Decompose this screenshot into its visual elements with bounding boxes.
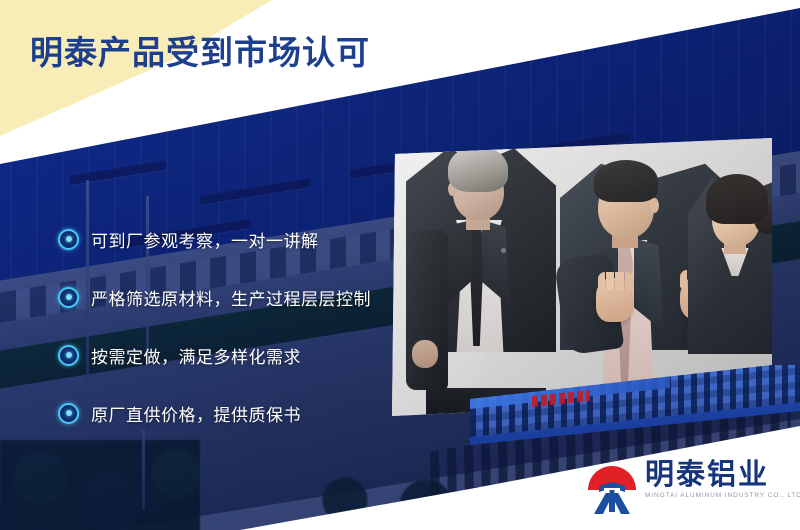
- logo-name-cn: 明泰铝业: [645, 460, 800, 490]
- hair: [448, 146, 508, 192]
- feature-label: 可到厂参观考察，一对一讲解: [91, 227, 319, 252]
- feature-item-2: 严格筛选原材料，生产过程层层控制: [58, 268, 388, 326]
- feature-list: 可到厂参观考察，一对一讲解 严格筛选原材料，生产过程层层控制 按需定做，满足多样…: [58, 210, 388, 442]
- logo-name-en: MINGTAI ALUMINUM INDUSTRY CO., LTD: [645, 492, 800, 499]
- feature-item-3: 按需定做，满足多样化需求: [58, 326, 388, 384]
- hair: [706, 174, 768, 224]
- feature-label: 原厂直供价格，提供质保书: [91, 401, 301, 426]
- hair: [594, 160, 658, 202]
- feature-label: 按需定做，满足多样化需求: [91, 343, 301, 368]
- logo-text: 明泰铝业 MINGTAI ALUMINUM INDUSTRY CO., LTD: [645, 458, 800, 499]
- feature-label: 严格筛选原材料，生产过程层层控制: [91, 285, 371, 310]
- marketing-banner: 明泰产品受到市场认可: [0, 0, 800, 530]
- person-western-businessman: [406, 144, 566, 426]
- hand: [412, 340, 438, 368]
- fingers-left: [598, 272, 634, 290]
- target-circle-icon: [58, 229, 79, 250]
- target-circle-icon: [58, 287, 79, 308]
- lapel-pin: [501, 248, 506, 253]
- ear: [650, 198, 659, 213]
- feature-item-4: 原厂直供价格，提供质保书: [58, 384, 388, 442]
- company-logo: 明泰铝业 MINGTAI ALUMINUM INDUSTRY CO., LTD: [583, 458, 793, 520]
- target-circle-icon: [58, 345, 79, 366]
- page-title: 明泰产品受到市场认可: [30, 26, 370, 74]
- target-circle-icon: [58, 403, 79, 424]
- feature-item-1: 可到厂参观考察，一对一讲解: [58, 210, 388, 268]
- mingtai-sun-mountain-icon: [583, 458, 641, 514]
